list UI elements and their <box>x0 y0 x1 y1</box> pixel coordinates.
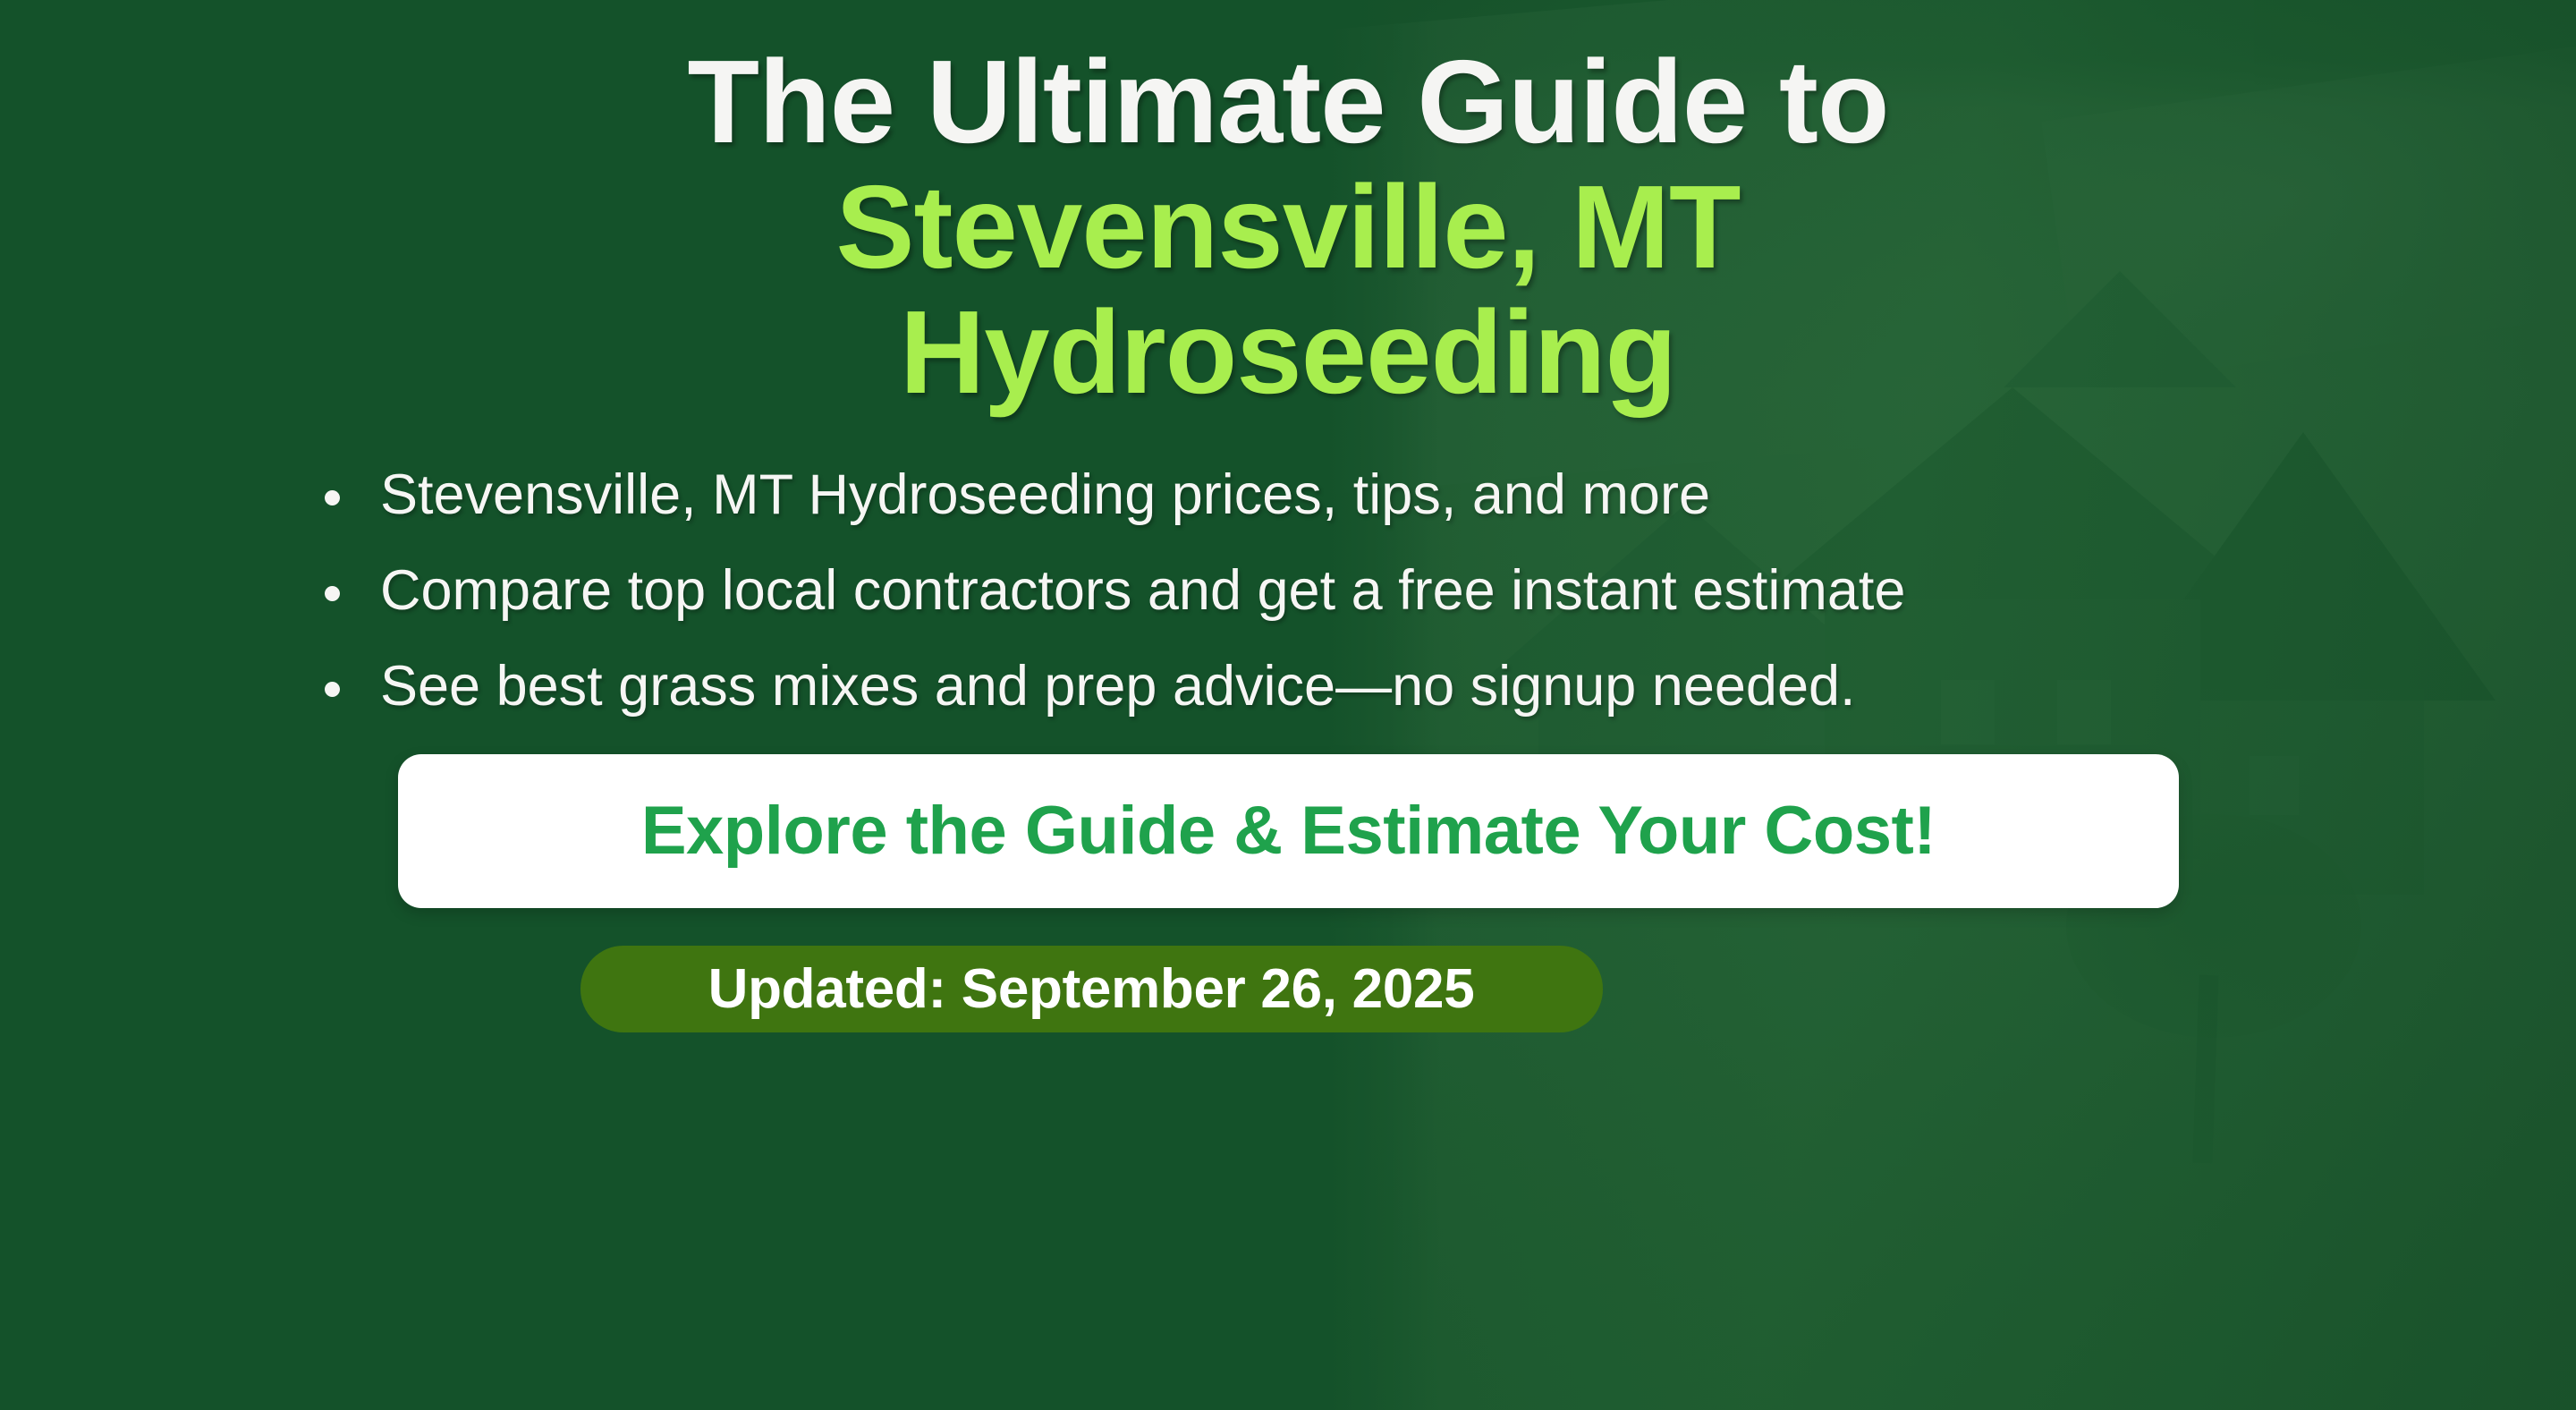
headline-line-2: Stevensville, MT <box>555 165 2021 290</box>
list-item: See best grass mixes and prep advice—no … <box>309 658 2576 715</box>
badge-container: Updated: September 26, 2025 <box>0 946 2576 1032</box>
hero-banner: The Ultimate Guide to Stevensville, MT H… <box>0 0 2576 1410</box>
page-title: The Ultimate Guide to Stevensville, MT H… <box>0 0 2576 415</box>
feature-bullet-list: Stevensville, MT Hydroseeding prices, ti… <box>0 467 2576 715</box>
headline-line-1: The Ultimate Guide to <box>0 39 2576 165</box>
cta-container: Explore the Guide & Estimate Your Cost! <box>0 754 2576 908</box>
list-item: Stevensville, MT Hydroseeding prices, ti… <box>309 467 2576 523</box>
bullet-text: Compare top local contractors and get a … <box>380 559 1905 622</box>
bullet-text: Stevensville, MT Hydroseeding prices, ti… <box>380 463 1710 526</box>
bullet-text: See best grass mixes and prep advice—no … <box>380 655 1856 718</box>
headline-line-3: Hydroseeding <box>555 290 2021 415</box>
explore-guide-button[interactable]: Explore the Guide & Estimate Your Cost! <box>398 754 2179 908</box>
updated-date-badge: Updated: September 26, 2025 <box>580 946 1603 1032</box>
hero-content: The Ultimate Guide to Stevensville, MT H… <box>0 0 2576 1410</box>
list-item: Compare top local contractors and get a … <box>309 563 2576 619</box>
